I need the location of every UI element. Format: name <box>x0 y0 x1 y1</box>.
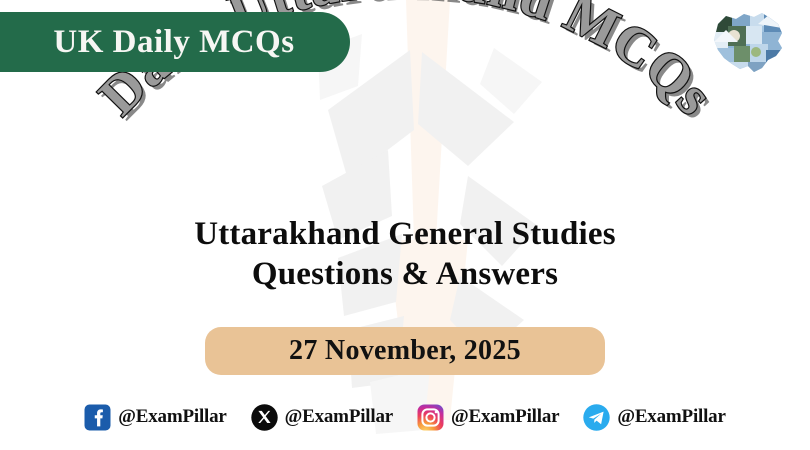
heading-line-1: Uttarakhand General Studies <box>0 214 810 254</box>
badge-label: UK Daily MCQs <box>39 24 294 61</box>
x-handle[interactable]: @ExamPillar <box>285 406 393 428</box>
social-item-instagram[interactable]: @ExamPillar <box>417 404 559 431</box>
social-item-x[interactable]: @ExamPillar <box>251 404 393 431</box>
telegram-handle[interactable]: @ExamPillar <box>617 406 725 428</box>
instagram-handle[interactable]: @ExamPillar <box>451 406 559 428</box>
main-heading: Uttarakhand General Studies Questions & … <box>0 214 810 294</box>
social-item-facebook[interactable]: @ExamPillar <box>84 404 226 431</box>
heading-line-2: Questions & Answers <box>0 254 810 294</box>
mcq-poster: Daily Uttarakhand MCQs Daily Uttarakhand… <box>0 0 810 450</box>
facebook-handle[interactable]: @ExamPillar <box>118 406 226 428</box>
telegram-icon[interactable] <box>583 404 610 431</box>
social-links-bar: @ExamPillar @ExamPillar <box>0 400 810 434</box>
social-item-telegram[interactable]: @ExamPillar <box>583 404 725 431</box>
uttarakhand-map-collage-icon <box>704 6 792 78</box>
instagram-icon[interactable] <box>417 404 444 431</box>
date-text: 27 November, 2025 <box>289 335 521 367</box>
date-banner: 27 November, 2025 <box>205 327 605 375</box>
x-twitter-icon[interactable] <box>251 404 278 431</box>
facebook-icon[interactable] <box>84 404 111 431</box>
uk-daily-mcqs-badge: UK Daily MCQs <box>0 12 350 72</box>
